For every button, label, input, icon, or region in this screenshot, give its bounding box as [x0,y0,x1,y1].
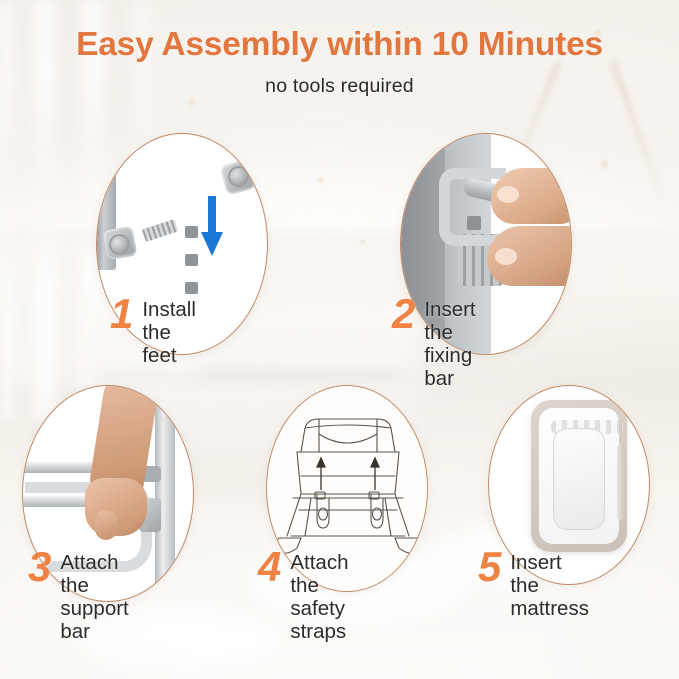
background-star-3: ✦ [314,174,327,190]
step-4-caption: 4 Attach the safety straps [258,548,348,644]
down-arrow-blue-icon [201,196,223,258]
step-1-number: 1 [110,295,133,334]
foot-bar-ridges [142,219,178,242]
step-2-number: 2 [392,295,415,334]
bassinet-post [155,386,175,601]
foot-bar-notch-3 [185,282,198,294]
background-shelf-edge [96,372,406,379]
step-5-number: 5 [478,548,501,587]
hand-thumb [491,168,571,224]
page-title: Easy Assembly within 10 Minutes [0,0,679,64]
foot-bar-notch-1 [185,226,198,238]
hand-finger-nail [495,248,517,265]
hand-thumb-nail [497,186,519,203]
step-3-caption: 3 Attach the support bar [28,548,129,644]
bassinet-side-tab [617,444,625,520]
step-4-label: Attach the safety straps [290,548,348,644]
background-star-6: ✦ [598,158,611,174]
step-1-caption: 1 Install the feet [110,295,196,368]
header: Easy Assembly within 10 Minutes no tools… [0,0,679,98]
step-5-label: Insert the mattress [510,548,589,621]
background-star-7: ✦ [358,236,368,248]
background-star-1: ✦ [185,96,198,112]
foot-bar-wheel-left [109,234,130,255]
step-2-label: Insert the fixing bar [424,295,475,391]
step-4-number: 4 [258,548,281,587]
step-3-number: 3 [28,548,51,587]
foot-bar-notch-2 [185,254,198,266]
assembly-infographic: ✦ ✦ ✦ ✦ ✦ ✦ ✦ Easy Assembly within 10 Mi… [0,0,679,679]
step-1-label: Install the feet [142,295,196,368]
step-3-label: Attach the support bar [60,548,128,644]
step-2-caption: 2 Insert the fixing bar [392,295,476,391]
bassinet-frame [531,400,627,552]
hand-thumb-tip [95,510,117,540]
step-5-caption: 5 Insert the mattress [478,548,589,621]
page-subtitle: no tools required [0,64,679,98]
foot-bar-wheel-right [228,166,249,187]
bassinet-liner [539,408,619,544]
hand-index-finger [487,226,571,286]
mattress-pad [553,428,605,530]
